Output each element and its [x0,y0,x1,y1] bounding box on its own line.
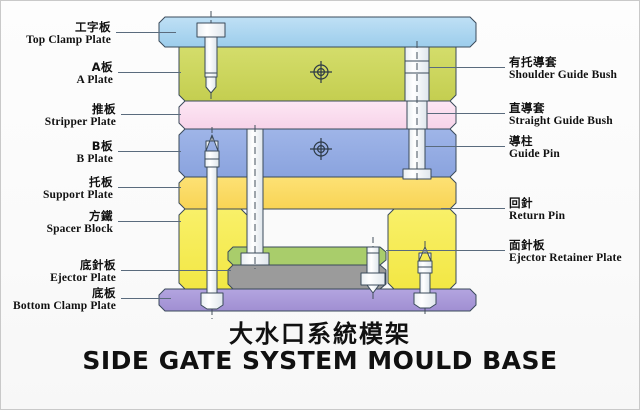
label-bottom-clamp-plate: 底板 Bottom Clamp Plate [13,287,116,314]
title-english: SIDE GATE SYSTEM MOULD BASE [1,346,639,375]
label-en: Shoulder Guide Bush [509,69,617,83]
label-cn: 推板 [45,103,116,116]
diagram-page: 工字板 Top Clamp Plate A板 A Plate 推板 Stripp… [0,0,640,410]
label-en: B Plate [77,153,114,167]
leader-straight-guide-bush [427,113,505,114]
label-cn: 回針 [509,197,565,210]
label-a-plate: A板 A Plate [77,61,114,88]
label-cn: 底針板 [50,259,116,272]
label-cn: 方鐵 [47,210,113,223]
label-shoulder-guide-bush: 有托導套 Shoulder Guide Bush [509,56,617,83]
label-en: A Plate [77,74,114,88]
leader-support-plate [118,187,181,188]
leader-stripper-plate [121,114,181,115]
label-straight-guide-bush: 直導套 Straight Guide Bush [509,102,613,129]
label-cn: 底板 [13,287,116,300]
label-en: Ejector Retainer Plate [509,252,622,266]
label-guide-pin: 導柱 Guide Pin [509,135,560,162]
label-cn: A板 [77,61,114,74]
label-cn: 有托導套 [509,56,617,69]
label-en: Top Clamp Plate [26,34,111,48]
leader-return-pin [441,208,505,209]
label-stripper-plate: 推板 Stripper Plate [45,103,116,130]
label-en: Spacer Block [47,223,113,237]
label-ejector-retainer-plate: 面針板 Ejector Retainer Plate [509,239,622,266]
label-return-pin: 回針 Return Pin [509,197,565,224]
label-spacer-block: 方鐵 Spacer Block [47,210,113,237]
label-cn: 面針板 [509,239,622,252]
leader-guide-pin [425,146,505,147]
label-en: Support Plate [43,189,113,203]
label-support-plate: 托板 Support Plate [43,176,113,203]
label-en: Straight Guide Bush [509,115,613,129]
label-en: Stripper Plate [45,116,116,130]
label-b-plate: B板 B Plate [77,140,114,167]
part-support-plate [179,177,456,209]
label-cn: B板 [77,140,114,153]
label-en: Ejector Plate [50,272,116,286]
leader-bottom-clamp-plate [121,298,171,299]
title-chinese: 大水口系統模架 [1,314,639,349]
leader-b-plate [118,151,181,152]
label-cn: 直導套 [509,102,613,115]
label-top-clamp-plate: 工字板 Top Clamp Plate [26,21,111,48]
leader-top-clamp-plate [116,32,176,33]
label-en: Return Pin [509,210,565,224]
label-ejector-plate: 底針板 Ejector Plate [50,259,116,286]
label-cn: 工字板 [26,21,111,34]
label-en: Guide Pin [509,148,560,162]
leader-ejector-plate [121,270,231,271]
label-cn: 導柱 [509,135,560,148]
leader-spacer-block [118,221,181,222]
leader-shoulder-guide-bush [429,67,505,68]
label-en: Bottom Clamp Plate [13,300,116,314]
leader-a-plate [118,72,181,73]
label-cn: 托板 [43,176,113,189]
leader-ejector-retainer-plate [386,250,505,251]
